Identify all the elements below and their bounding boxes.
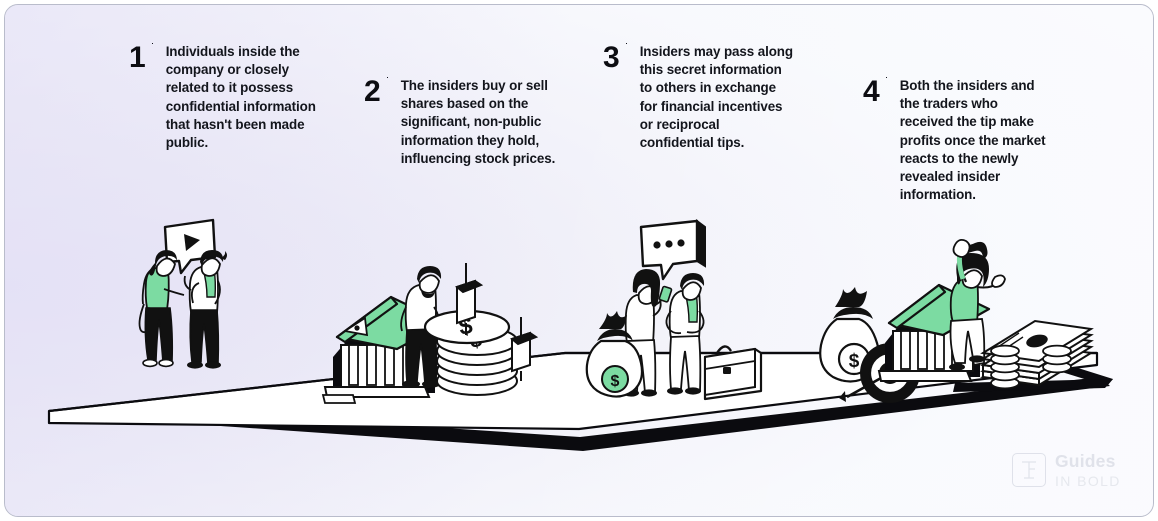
- infographic-card: $ $: [4, 4, 1154, 517]
- step-text-2: The insiders buy or sell shares based on…: [401, 77, 556, 168]
- step-text-1: Individuals inside the company or closel…: [166, 43, 318, 152]
- brand-tagline: IN BOLD: [1055, 474, 1121, 488]
- step-number-3: 3: [603, 43, 619, 73]
- step-callout-1: 1 Individuals inside the company or clos…: [129, 43, 318, 152]
- letter-f-monogram-icon: [1012, 453, 1046, 487]
- step-number-4: 4: [863, 77, 879, 107]
- brand-wordmark: Guides IN BOLD: [1055, 453, 1121, 488]
- step-number-2: 2: [364, 77, 380, 107]
- step-text-3: Insiders may pass along this secret info…: [640, 43, 795, 152]
- step-callout-4: 4 Both the insiders and the traders who …: [863, 77, 1050, 204]
- svg-text:$: $: [611, 373, 620, 390]
- step-connector-3: [626, 43, 627, 44]
- step-callout-2: 2 The insiders buy or sell shares based …: [364, 77, 556, 168]
- group-2-illustration: $ $: [323, 263, 536, 403]
- group-4-illustration: $: [820, 240, 1091, 403]
- step-number-1: 1: [129, 43, 145, 73]
- step-callout-3: 3 Insiders may pass along this secret in…: [603, 43, 795, 152]
- step-connector-1: [152, 43, 153, 44]
- svg-text:$: $: [849, 351, 860, 372]
- infographic-root: $ $: [0, 0, 1158, 521]
- woman-standing-icon: [140, 250, 185, 366]
- step-connector-4: [886, 77, 887, 78]
- coin-stack-icon: [1043, 346, 1071, 373]
- dollar-coin-stack-icon: $ $: [425, 311, 517, 395]
- group-3-illustration: $: [587, 221, 761, 399]
- brand-name: Guides: [1055, 453, 1121, 471]
- coin-stack-icon: [991, 346, 1019, 389]
- man-standing-icon: [185, 250, 227, 369]
- group-1-illustration: [140, 220, 228, 369]
- step-text-4: Both the insiders and the traders who re…: [900, 77, 1050, 204]
- brand-logo: Guides IN BOLD: [1012, 453, 1121, 488]
- step-connector-2: [387, 77, 388, 78]
